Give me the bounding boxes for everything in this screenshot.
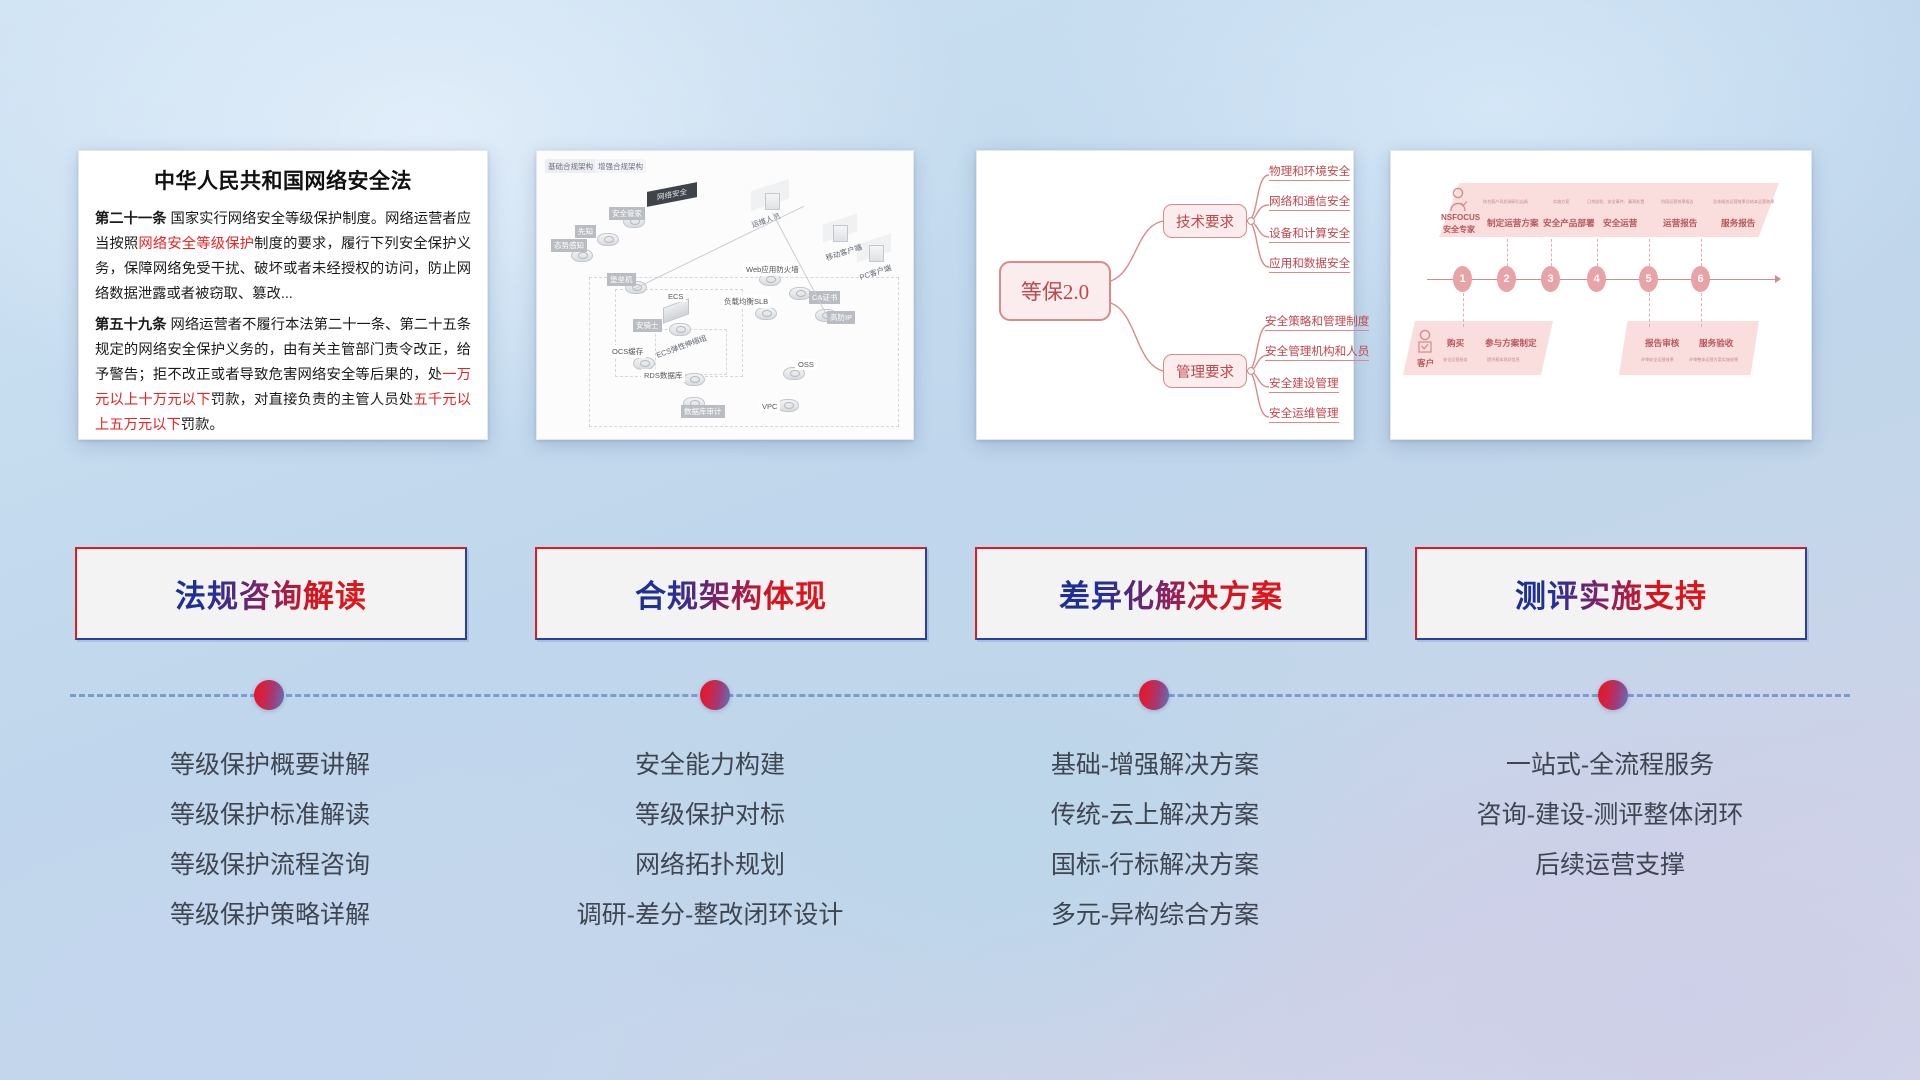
card-compliance-architecture[interactable]: 基础合规架构 增强合规架构 网络安全 安全管家 先知 态势感知 堡垒机 ECS … [536, 150, 914, 440]
tab-enhanced-architecture[interactable]: 增强合规架构 [595, 159, 646, 173]
step-sub-bottom: 提供基本现状信息 [1487, 357, 1520, 363]
list-item: 传统-云上解决方案 [945, 790, 1365, 840]
band-client-right [1619, 321, 1759, 375]
section-title-label: 差异化解决方案 [1059, 571, 1283, 616]
article-59-text-end: 罚款。 [181, 417, 224, 433]
mindmap-leaf[interactable]: 安全运维管理 [1269, 405, 1339, 423]
step-sub-top: 总体服务运营效果总结本运营效果 [1713, 199, 1774, 205]
mindmap-branch-management[interactable]: 管理要求 [1163, 354, 1247, 388]
architecture-diagram: 基础合规架构 增强合规架构 网络安全 安全管家 先知 态势感知 堡垒机 ECS … [537, 151, 913, 439]
step-title-top: 制定运营方案 [1487, 217, 1539, 229]
label-client: 客户 [1417, 357, 1434, 369]
list-item: 后续运营支撑 [1390, 840, 1830, 890]
section-title-row: 法规咨询解读 合规架构体现 差异化解决方案 测评实施支持 [0, 547, 1920, 640]
label-db-audit: 数据库审计 [681, 405, 725, 418]
label-xianzhi: 先知 [575, 225, 596, 238]
step-sub-bottom: 安全运营服务 [1443, 357, 1468, 363]
card-cybersecurity-law[interactable]: 中华人民共和国网络安全法 第二十一条 国家实行网络安全等级保护制度。网络运营者应… [78, 150, 488, 440]
label-security-steward: 安全管家 [609, 207, 645, 220]
section-title-box-3[interactable]: 差异化解决方案 [975, 547, 1367, 640]
label-rds-db: RDS数据库 [641, 369, 685, 382]
section-title-label: 测评实施支持 [1515, 571, 1707, 616]
label-ocs-cache: OCS缓存 [609, 345, 646, 358]
step-title-top: 服务报告 [1721, 217, 1755, 229]
section-title-label: 合规架构体现 [635, 571, 827, 616]
label-oss: OSS [795, 359, 817, 370]
step-sub-top: 日常巡检、安全事件、漏洞处置 [1587, 199, 1644, 205]
list-item: 国标-行标解决方案 [945, 840, 1365, 890]
list-item: 一站式-全流程服务 [1390, 740, 1830, 790]
collapse-toggle-mgmt [1248, 368, 1255, 375]
list-item: 等级保护流程咨询 [60, 840, 480, 890]
section-title-box-4[interactable]: 测评实施支持 [1415, 547, 1807, 640]
list-item: 网络拓扑规划 [500, 840, 920, 890]
step-sub-top: 实施方案 [1553, 199, 1569, 205]
mindmap-leaf[interactable]: 安全策略和管理制度 [1265, 313, 1369, 331]
timeline-bead-2[interactable] [700, 680, 730, 710]
label-ecs: ECS [665, 291, 686, 302]
label-anqishi: 安骑士 [633, 319, 662, 332]
label-slb: 负载均衡SLB [721, 295, 771, 308]
timeline-bead-3[interactable] [1139, 680, 1169, 710]
mindmap-leaf[interactable]: 安全建设管理 [1269, 375, 1339, 393]
expert-person-icon [1447, 187, 1469, 213]
connector-dash [1597, 239, 1598, 271]
label-vpc: VPC [759, 401, 780, 412]
step-title-bottom: 购买 [1447, 337, 1464, 349]
card-service-timeline[interactable]: NSFOCUS 安全专家 结合客户现状调研后出具 制定运营方案 实施方案 安全产… [1390, 150, 1812, 440]
timeline-arrow-icon [1775, 275, 1781, 283]
article-21-label: 第二十一条 [95, 211, 167, 227]
connector-dash [1507, 239, 1508, 271]
icon-pc-client [869, 245, 884, 262]
connector-dash [1649, 239, 1650, 271]
client-person-icon [1415, 329, 1435, 355]
connector-dash [1551, 239, 1552, 271]
list-item: 基础-增强解决方案 [945, 740, 1365, 790]
step-sub-top: 结合客户现状调研后出具 [1483, 199, 1528, 205]
icon-xianzhi [597, 233, 619, 246]
step-sub-bottom: 评审安全运营效果 [1641, 357, 1674, 363]
mindmap-leaf[interactable]: 应用和数据安全 [1269, 255, 1350, 273]
article-21-highlight: 网络安全等级保护 [138, 236, 254, 252]
icon-ops-staff [765, 193, 780, 210]
article-59-label: 第五十九条 [95, 317, 167, 333]
list-item: 调研-差分-整改闭环设计 [500, 890, 920, 940]
step-title-bottom: 服务验收 [1699, 337, 1733, 349]
mindmap-leaf[interactable]: 设备和计算安全 [1269, 225, 1350, 243]
connector-dash [1701, 293, 1702, 327]
detail-list-3: 基础-增强解决方案 传统-云上解决方案 国标-行标解决方案 多元-异构综合方案 [945, 740, 1365, 940]
mindmap-leaf[interactable]: 物理和环境安全 [1269, 163, 1350, 181]
step-sub-top: 阶段运营效果报告 [1661, 199, 1694, 205]
section-title-box-1[interactable]: 法规咨询解读 [75, 547, 467, 640]
label-nsfocus-sub: 安全专家 [1443, 224, 1475, 235]
network-security-banner: 网络安全 [647, 182, 697, 207]
connector-dash [1649, 293, 1650, 327]
law-document: 中华人民共和国网络安全法 第二十一条 国家实行网络安全等级保护制度。网络运营者应… [79, 151, 487, 452]
thumbnail-card-row: 中华人民共和国网络安全法 第二十一条 国家实行网络安全等级保护制度。网络运营者应… [0, 150, 1920, 440]
detail-list-2: 安全能力构建 等级保护对标 网络拓扑规划 调研-差分-整改闭环设计 [500, 740, 920, 940]
list-item: 等级保护概要讲解 [60, 740, 480, 790]
list-item: 咨询-建设-测评整体闭环 [1390, 790, 1830, 840]
law-article-21: 第二十一条 国家实行网络安全等级保护制度。网络运营者应当按照网络安全等级保护制度… [95, 207, 471, 307]
list-item: 等级保护策略详解 [60, 890, 480, 940]
step-title-top: 运营报告 [1663, 217, 1697, 229]
list-item: 安全能力构建 [500, 740, 920, 790]
step-sub-bottom: 评审整体运营方案实施效果 [1689, 357, 1738, 363]
service-process-timeline: NSFOCUS 安全专家 结合客户现状调研后出具 制定运营方案 实施方案 安全产… [1391, 151, 1811, 439]
icon-anqishi [669, 323, 691, 336]
icon-ca-cert [789, 287, 811, 300]
card-mindmap-dengbao[interactable]: 等保2.0 技术要求 管理要求 物理和环境安全 网络和通信安全 设备和计算安全 … [976, 150, 1354, 440]
icon-rds-db [683, 373, 705, 386]
detail-list-4: 一站式-全流程服务 咨询-建设-测评整体闭环 后续运营支撑 [1390, 740, 1830, 890]
mindmap-leaf[interactable]: 安全管理机构和人员 [1265, 343, 1369, 361]
timeline-step-dot[interactable]: 1 [1453, 266, 1472, 292]
collapse-toggle-tech [1248, 218, 1255, 225]
detail-list-1: 等级保护概要讲解 等级保护标准解读 等级保护流程咨询 等级保护策略详解 [60, 740, 480, 940]
icon-mobile-client [833, 225, 848, 242]
timeline-bead-4[interactable] [1598, 680, 1628, 710]
label-anti-ddos-ip: 高防IP [827, 311, 855, 324]
law-title: 中华人民共和国网络安全法 [95, 165, 471, 195]
timeline-rail [70, 694, 1850, 697]
list-item: 等级保护标准解读 [60, 790, 480, 840]
label-situational-awareness: 态势感知 [551, 239, 587, 252]
mindmap-branch-technical[interactable]: 技术要求 [1163, 204, 1247, 238]
section-title-label: 法规咨询解读 [175, 571, 367, 616]
list-item: 多元-异构综合方案 [945, 890, 1365, 940]
article-59-text-mid: 罚款，对直接负责的主管人员处 [211, 392, 414, 408]
mindmap-diagram: 等保2.0 技术要求 管理要求 物理和环境安全 网络和通信安全 设备和计算安全 … [977, 151, 1353, 439]
connector-dash [1463, 293, 1464, 327]
list-item: 等级保护对标 [500, 790, 920, 840]
label-nsfocus: NSFOCUS [1441, 213, 1480, 222]
step-title-top: 安全产品部署 [1543, 217, 1595, 229]
tab-basic-architecture[interactable]: 基础合规架构 [545, 159, 596, 173]
law-article-59: 第五十九条 网络运营者不履行本法第二十一条、第二十五条规定的网络安全保护义务的，… [95, 313, 471, 438]
timeline-bead-1[interactable] [254, 680, 284, 710]
section-title-box-2[interactable]: 合规架构体现 [535, 547, 927, 640]
step-title-bottom: 参与方案制定 [1485, 337, 1537, 349]
label-waf: Web应用防火墙 [743, 263, 802, 276]
mindmap-leaf[interactable]: 网络和通信安全 [1269, 193, 1350, 211]
connector-dash [1701, 239, 1702, 271]
label-bastion-host: 堡垒机 [607, 273, 636, 286]
step-title-bottom: 报告审核 [1645, 337, 1679, 349]
mindmap-root-node[interactable]: 等保2.0 [999, 261, 1111, 321]
icon-slb [755, 307, 777, 320]
step-title-top: 安全运营 [1603, 217, 1637, 229]
